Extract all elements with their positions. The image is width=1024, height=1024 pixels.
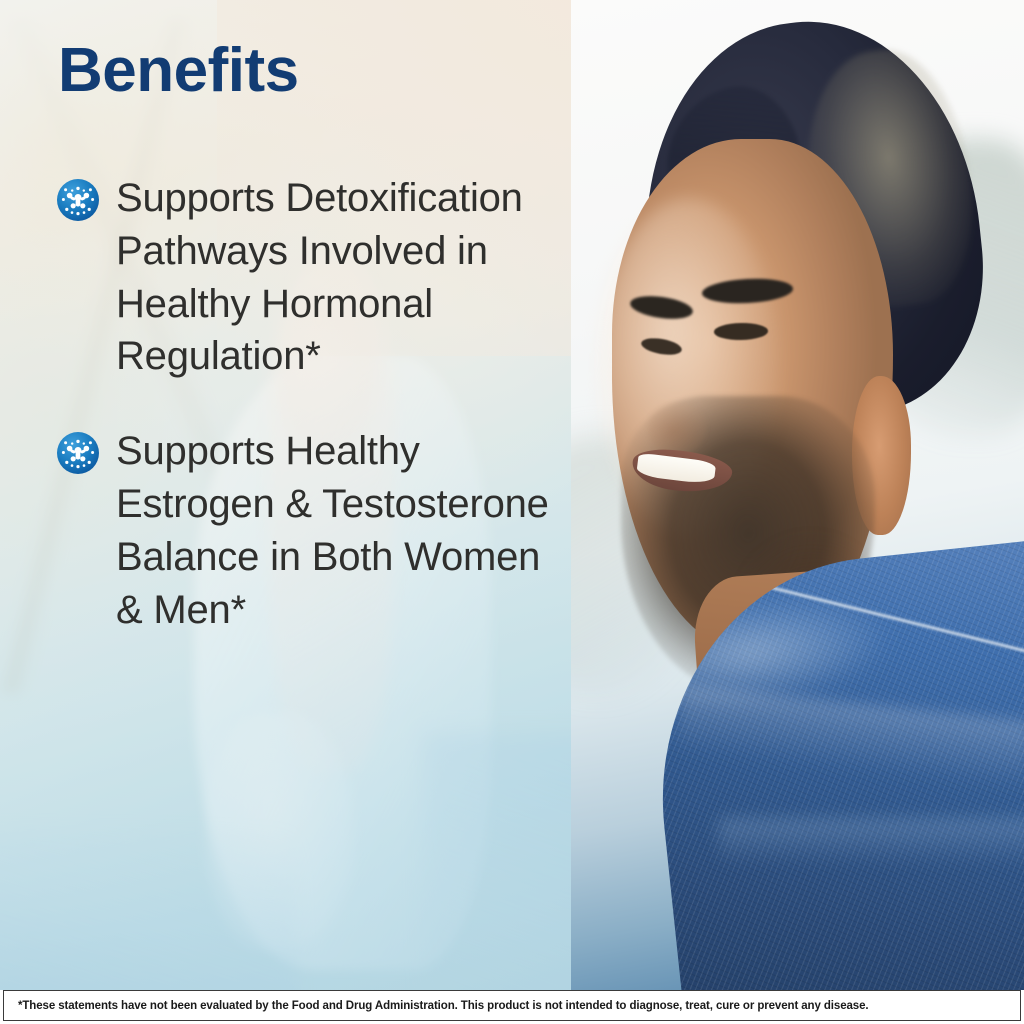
photo-nose	[648, 401, 707, 455]
benefit-text: Supports Healthy Estrogen & Testosterone…	[116, 425, 553, 636]
product-benefits-banner: Benefits	[0, 0, 1024, 1024]
benefit-text: Supports Detoxification Pathways Involve…	[116, 172, 553, 383]
photo-shirt	[638, 529, 1024, 990]
disclaimer-text: *These statements have not been evaluate…	[4, 1000, 868, 1012]
benefits-list: Supports Detoxification Pathways Involve…	[56, 172, 553, 678]
disclaimer-bar: *These statements have not been evaluate…	[3, 990, 1021, 1021]
molecule-icon	[56, 178, 100, 222]
list-item: Supports Detoxification Pathways Involve…	[56, 172, 553, 383]
list-item: Supports Healthy Estrogen & Testosterone…	[56, 425, 553, 636]
photo-shirt-fold	[718, 819, 1024, 867]
photo-teeth	[636, 453, 716, 485]
hero-photo	[571, 0, 1024, 990]
molecule-icon	[56, 431, 100, 475]
benefits-content: Benefits	[0, 0, 571, 990]
benefits-panel: Benefits	[0, 0, 571, 990]
page-title: Benefits	[58, 40, 299, 102]
